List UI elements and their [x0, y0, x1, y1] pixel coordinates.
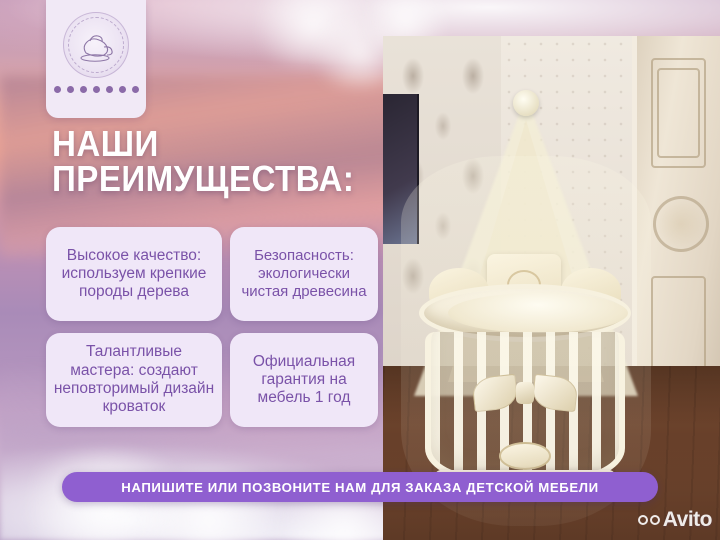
dot [132, 86, 139, 93]
crib-medallion-icon [499, 442, 551, 470]
avito-dots-icon [638, 515, 660, 525]
dot [54, 86, 61, 93]
sleeping-baby-icon [74, 29, 118, 63]
avito-wordmark: Avito [663, 508, 712, 532]
bow-knot [516, 382, 534, 404]
avito-dot [650, 515, 660, 525]
dot [80, 86, 87, 93]
dot [67, 86, 74, 93]
promo-banner: НАШИ ПРЕИМУЩЕСТВА: Высокое качество: исп… [0, 0, 720, 540]
bow-left-loop [471, 374, 518, 412]
feature-card-quality[interactable]: Высокое качество: используем крепкие пор… [46, 227, 222, 321]
dot [93, 86, 100, 93]
feature-card-masters[interactable]: Талантливые мастера: создают неповторимы… [46, 333, 222, 427]
crib-bedding [448, 293, 628, 333]
title-line-2: ПРЕИМУЩЕСТВА: [52, 161, 346, 196]
page-title: НАШИ ПРЕИМУЩЕСТВА: [52, 126, 346, 197]
features-grid: Высокое качество: используем крепкие пор… [46, 227, 376, 427]
bow-right-loop [531, 374, 578, 412]
door-medallion-icon [653, 196, 709, 252]
door-panel [657, 68, 700, 158]
avito-dot [638, 515, 648, 525]
round-crib [401, 96, 651, 516]
feature-card-warranty[interactable]: Официальная гарантия на мебель 1 год [230, 333, 378, 427]
dot [119, 86, 126, 93]
crib-body [411, 284, 639, 494]
brand-logo-panel [46, 0, 146, 118]
crib-photo [383, 36, 720, 540]
feature-card-safety[interactable]: Безопасность: экологически чистая древес… [230, 227, 378, 321]
sleeping-baby-badge-icon [63, 12, 129, 78]
cta-banner[interactable]: НАПИШИТЕ ИЛИ ПОЗВОНИТЕ НАМ ДЛЯ ЗАКАЗА ДЕ… [62, 472, 658, 502]
canopy-crown-icon [513, 90, 539, 116]
decorative-bow-icon [473, 376, 577, 410]
dots-indicator [54, 86, 139, 93]
dot [106, 86, 113, 93]
avito-watermark: Avito [638, 508, 712, 532]
